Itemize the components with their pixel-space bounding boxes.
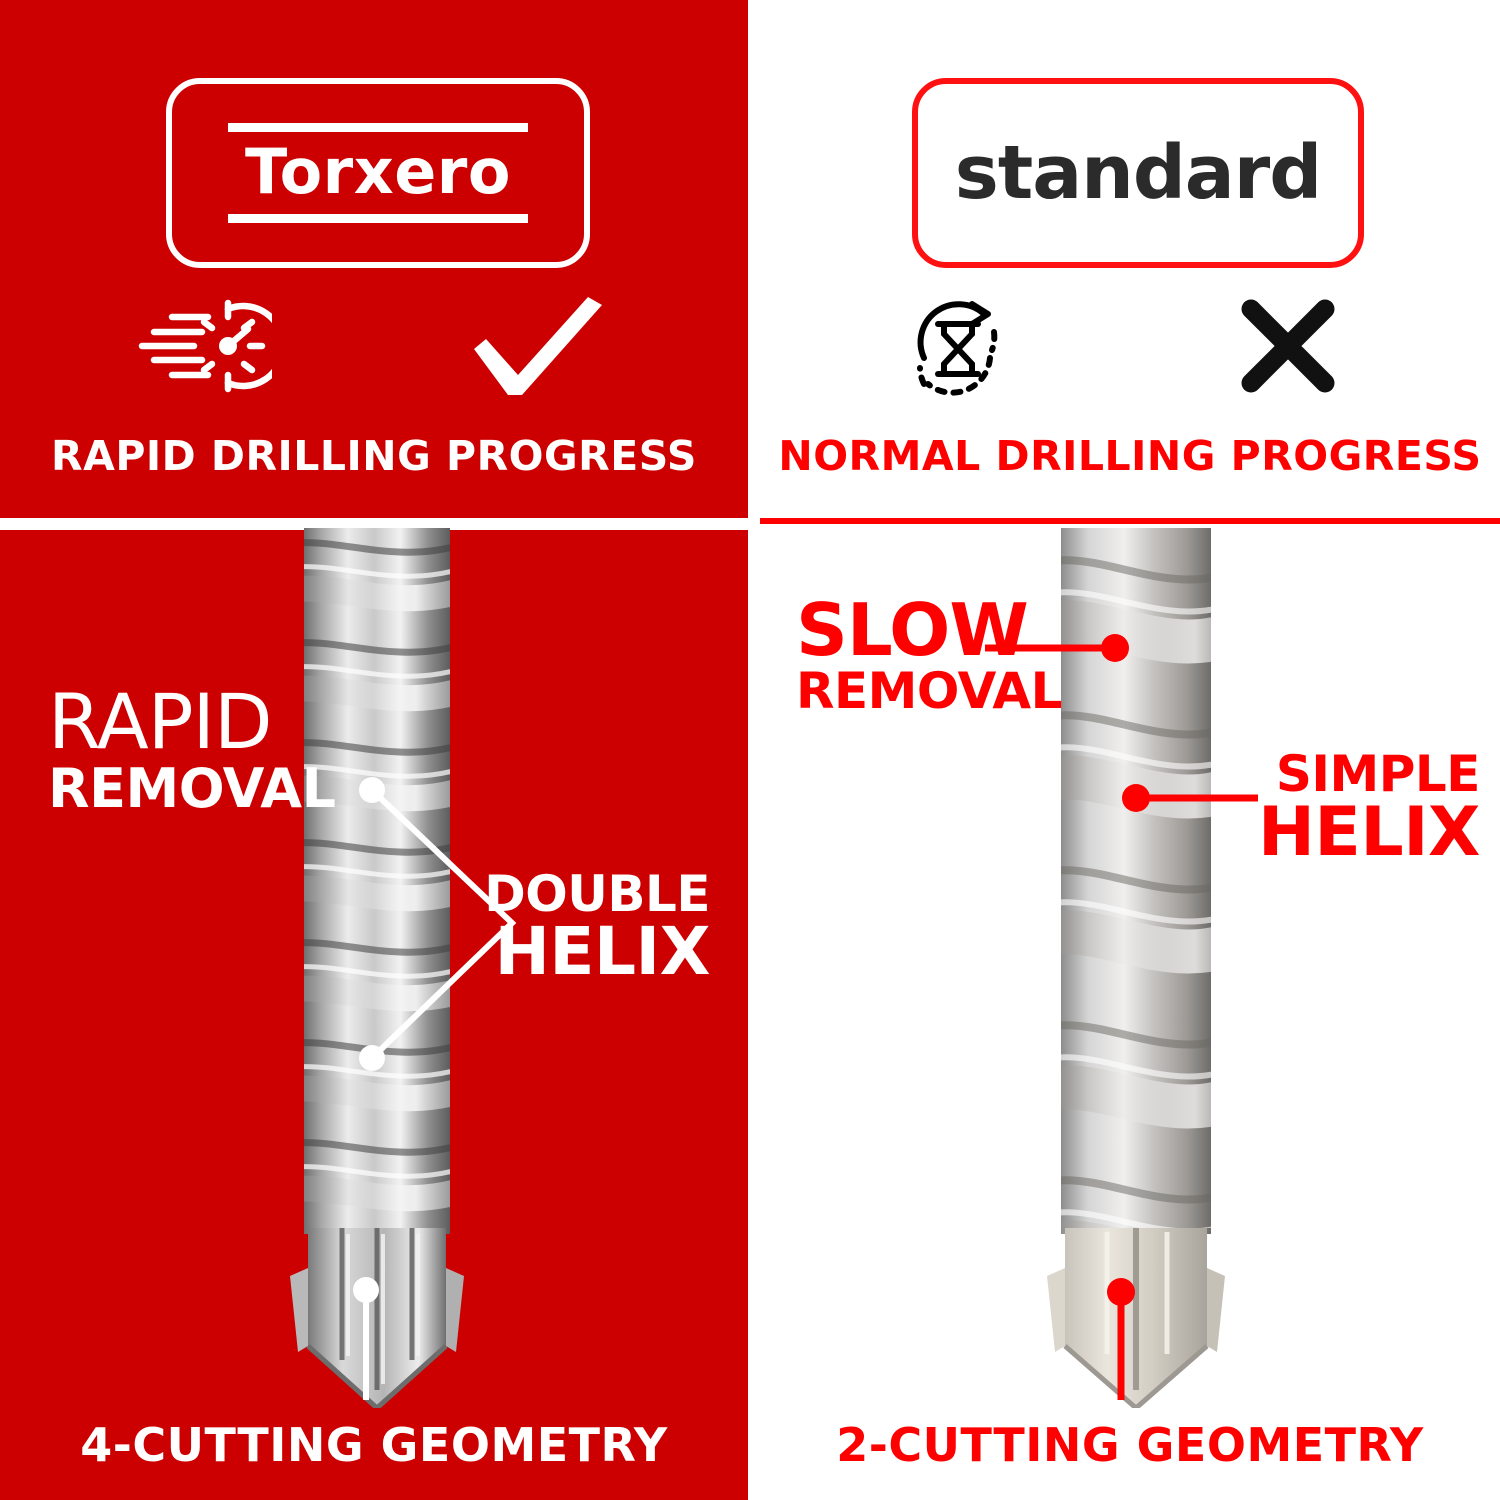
caption-2-cutting-geometry: 2-CUTTING GEOMETRY [760,1418,1500,1472]
horizontal-divider [760,518,1500,524]
comparison-infographic: Torxero standard [0,0,1500,1500]
vertical-divider [748,0,760,1500]
brand-logo: Torxero [228,123,528,222]
feature-row-left [40,288,708,408]
brand-badge-standard: standard [912,78,1364,268]
callout-double-helix: DOUBLE HELIX [430,870,710,983]
caption-4-cutting-geometry: 4-CUTTING GEOMETRY [0,1418,748,1472]
brand-badge-torxero: Torxero [166,78,590,268]
drill-bit-standard [1035,528,1235,1408]
callout-simple-line1: SIMPLE [1258,750,1480,798]
cross-icon [1233,291,1343,406]
callout-rapid-line1: RAPID [48,686,336,759]
callout-rapid-line2: REMOVAL [48,763,336,815]
brand-wordmark: Torxero [228,132,528,213]
logo-rule-bottom [228,214,528,223]
caption-rapid-drilling: RAPID DRILLING PROGRESS [0,432,748,480]
callout-simple-helix: SIMPLE HELIX [1258,750,1480,865]
speedometer-icon [132,291,272,406]
callout-rapid-removal: RAPID REMOVAL [48,686,336,815]
callout-double-line2: HELIX [430,920,710,983]
logo-rule-top [228,123,528,132]
callout-simple-line2: HELIX [1258,800,1480,865]
callout-slow-line2: REMOVAL [796,667,1062,715]
caption-normal-drilling: NORMAL DRILLING PROGRESS [760,432,1500,480]
feature-row-right [790,288,1450,408]
callout-slow-line1: SLOW [796,596,1062,665]
check-icon [456,291,616,406]
callout-double-line1: DOUBLE [430,870,710,918]
standard-wordmark: standard [955,130,1321,216]
callout-slow-removal: SLOW REMOVAL [796,596,1062,715]
hourglass-rotate-icon [898,288,1018,408]
